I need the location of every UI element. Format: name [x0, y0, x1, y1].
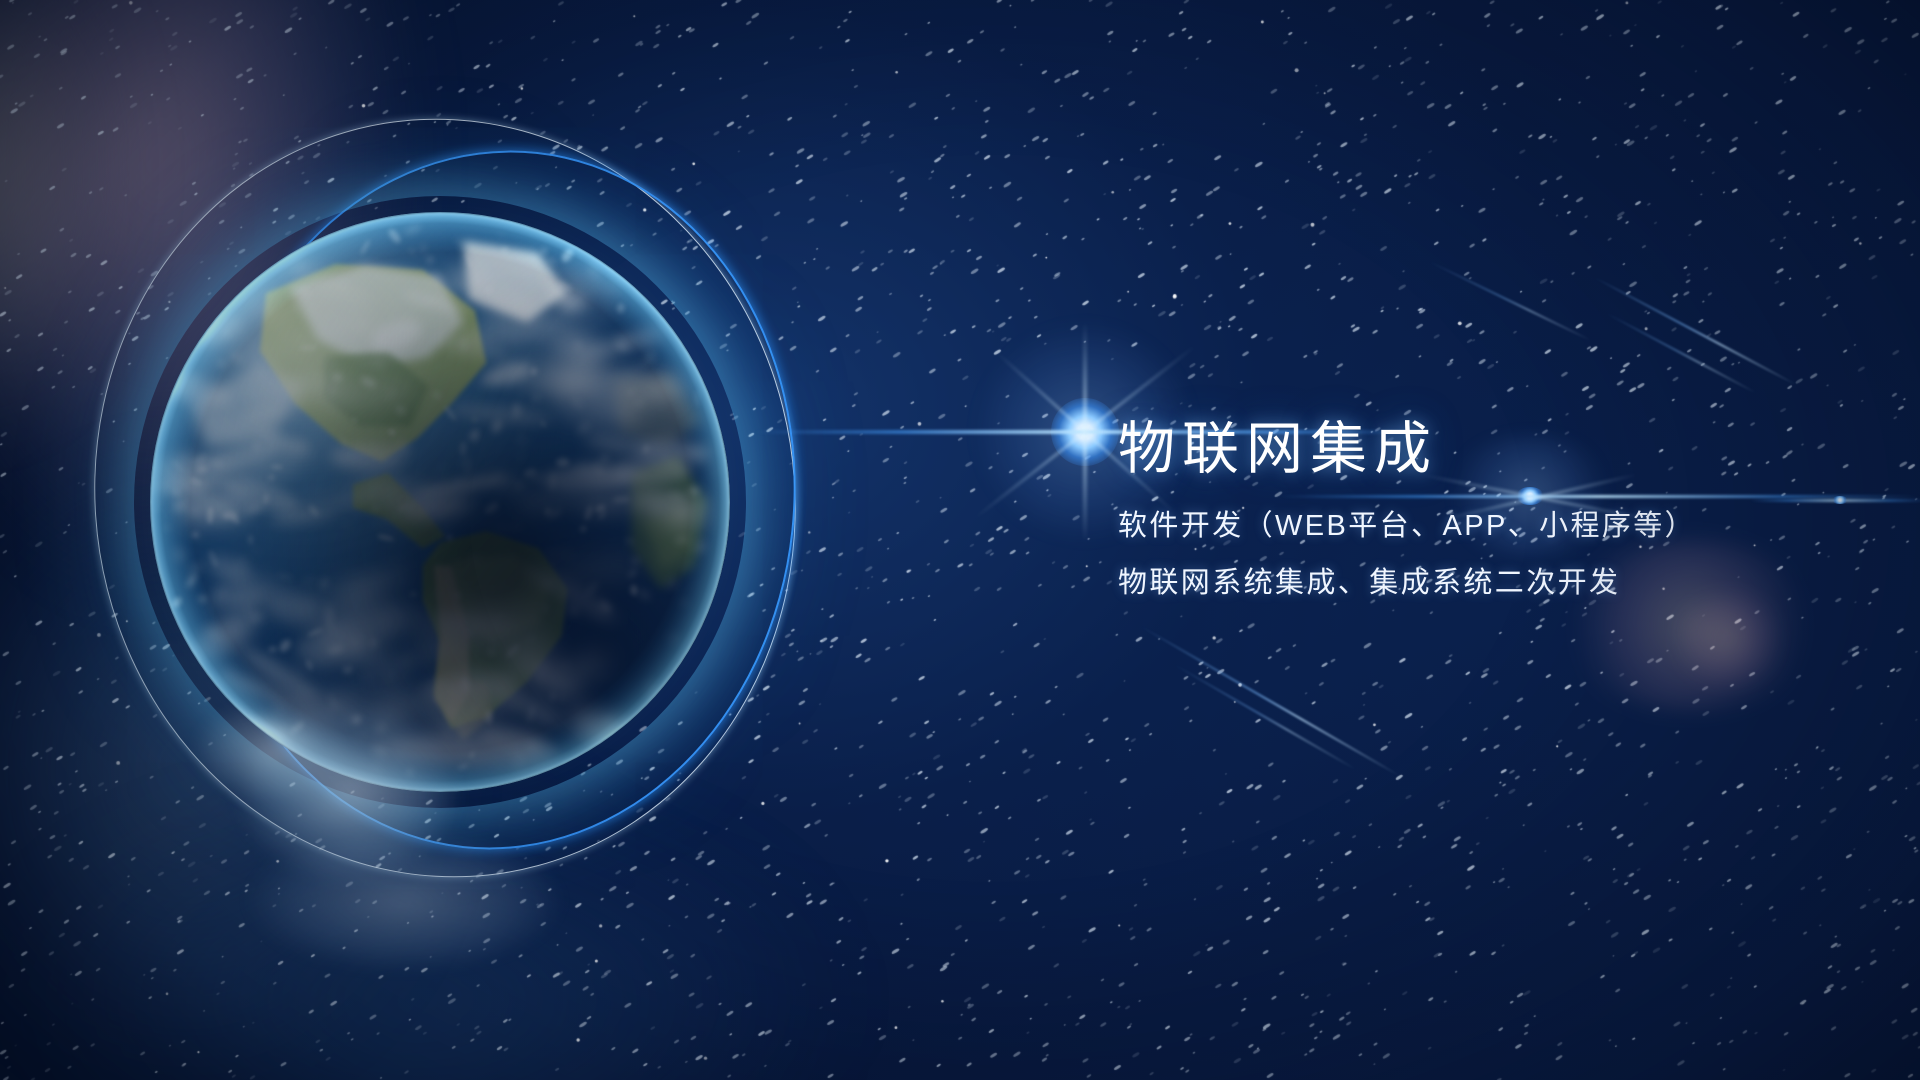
subtitle-list: 软件开发（WEB平台、APP、小程序等） 物联网系统集成、集成系统二次开发 — [1118, 512, 1878, 598]
meteor-streak-lower-center-2 — [1174, 664, 1357, 771]
globe-rim-light — [150, 212, 730, 792]
globe-outer-bloom — [134, 196, 746, 808]
globe-terminator-shading — [150, 212, 730, 792]
inner-orbit-ring — [170, 121, 830, 879]
meteor-streak-far-right — [1429, 261, 1592, 342]
atmospheric-haze-left — [0, 420, 560, 1080]
globe-atmosphere-glow — [102, 164, 778, 840]
subtitle-line-2: 物联网系统集成、集成系统二次开发 — [1118, 569, 1878, 598]
page-title: 物联网集成 — [1118, 418, 1878, 482]
orbit-ring-group — [0, 0, 920, 1080]
aurora-glow-warm — [0, 0, 160, 520]
banner-stage: 物联网集成 软件开发（WEB平台、APP、小程序等） 物联网系统集成、集成系统二… — [0, 0, 1920, 1080]
earth-globe — [150, 212, 730, 792]
atmospheric-haze-bottom — [0, 740, 1100, 1080]
subtitle-line-1: 软件开发（WEB平台、APP、小程序等） — [1118, 512, 1878, 541]
outer-orbit-ring — [40, 68, 850, 928]
flare-vertical-spike — [1083, 322, 1087, 542]
ice-cloud-reflection — [160, 690, 630, 1030]
meteor-streak-lower-center — [1140, 625, 1401, 777]
flare-core — [1051, 398, 1119, 466]
aurora-glow-pink — [0, 0, 600, 680]
meteor-streak-upper-right — [1593, 276, 1797, 386]
globe-sphere — [150, 212, 730, 792]
banner-text-block: 物联网集成 软件开发（WEB平台、APP、小程序等） 物联网系统集成、集成系统二… — [1118, 418, 1878, 598]
warm-bloom-flare-small — [1668, 594, 1788, 684]
meteor-streak-upper-right-2 — [1605, 312, 1756, 394]
